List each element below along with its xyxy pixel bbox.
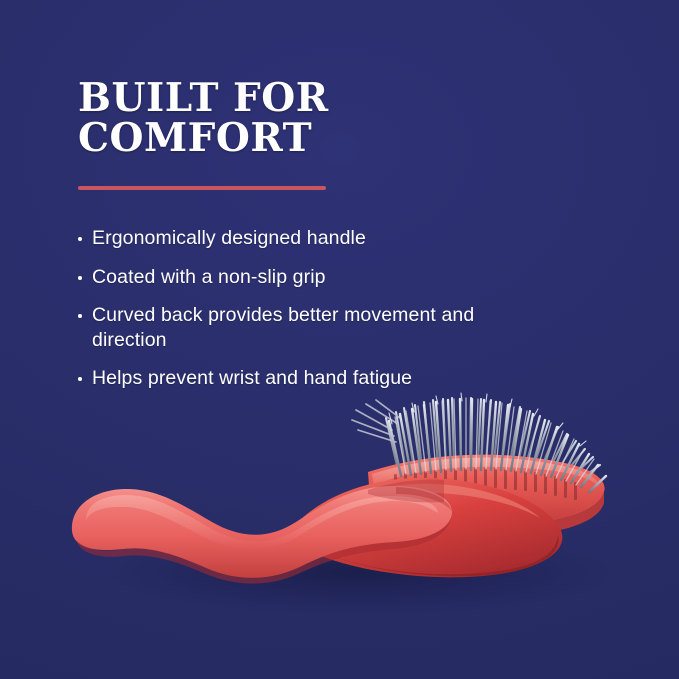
feature-list: Ergonomically designed handle Coated wit…	[78, 226, 498, 405]
title-divider	[78, 186, 326, 190]
list-item: Helps prevent wrist and hand fatigue	[78, 366, 498, 391]
headline-line-2: COMFORT	[78, 118, 508, 158]
list-item: Ergonomically designed handle	[78, 226, 498, 251]
page-title: BUILT FOR COMFORT	[78, 78, 508, 158]
list-item: Coated with a non-slip grip	[78, 265, 498, 290]
list-item: Curved back provides better movement and…	[78, 303, 498, 352]
copy-block: BUILT FOR COMFORT	[78, 78, 508, 158]
product-feature-card: BUILT FOR COMFORT Ergonomically designed…	[0, 0, 679, 679]
headline-line-1: BUILT FOR	[78, 75, 329, 121]
